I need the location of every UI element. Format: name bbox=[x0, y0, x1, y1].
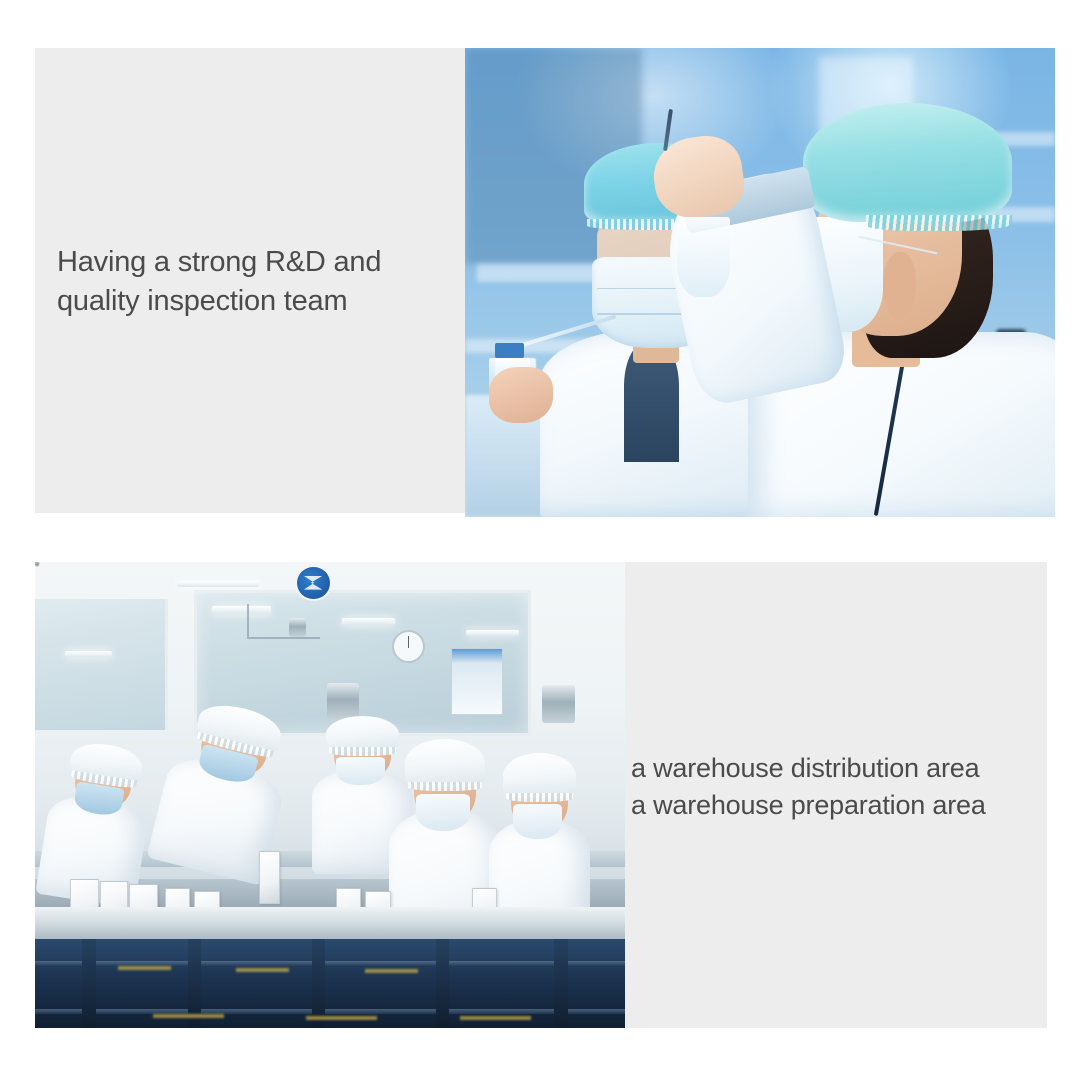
top-section: Having a strong R&D and quality inspecti… bbox=[35, 48, 1055, 518]
ceiling-light-5 bbox=[177, 581, 260, 588]
wall-notice-poster bbox=[451, 648, 503, 715]
hanging-rack-icon bbox=[247, 604, 320, 639]
worker3-hairnet-icon bbox=[326, 716, 398, 752]
ceiling-light-2 bbox=[342, 618, 395, 625]
table-rail-lower bbox=[35, 1009, 625, 1014]
table-underside bbox=[35, 939, 625, 1028]
floor-marking-stripe bbox=[118, 966, 171, 970]
floor-marking-stripe bbox=[153, 1014, 224, 1018]
lab-inspection-photo bbox=[465, 48, 1055, 517]
bottom-caption: a warehouse distribution area a warehous… bbox=[617, 750, 1041, 824]
floor-marking-stripe bbox=[460, 1016, 531, 1020]
worker5-hairnet-icon bbox=[503, 753, 575, 798]
steel-fixture bbox=[289, 618, 307, 637]
bottom-section: a warehouse distribution area a warehous… bbox=[35, 562, 1047, 1028]
hand-holding-bottle bbox=[489, 367, 554, 423]
warehouse-packing-photo bbox=[35, 562, 625, 1028]
bottom-caption-panel: a warehouse distribution area a warehous… bbox=[617, 562, 1047, 1028]
blue-circular-sign-icon bbox=[295, 565, 332, 602]
carton bbox=[35, 562, 37, 564]
worker4-hairnet-icon bbox=[405, 739, 486, 787]
carton-upright bbox=[259, 851, 280, 904]
table-leg bbox=[436, 939, 449, 1028]
cleanroom-window-left bbox=[35, 599, 168, 729]
top-caption-panel: Having a strong R&D and quality inspecti… bbox=[35, 48, 467, 513]
bottom-caption-line-1: a warehouse distribution area bbox=[631, 750, 1041, 787]
top-caption-line-1: Having a strong R&D and bbox=[57, 243, 457, 282]
top-caption: Having a strong R&D and quality inspecti… bbox=[57, 243, 457, 321]
ceiling-light-4 bbox=[65, 651, 112, 657]
table-leg bbox=[82, 939, 96, 1028]
ceiling-light-3 bbox=[466, 630, 519, 637]
table-leg bbox=[554, 939, 568, 1028]
steel-dispenser-2 bbox=[542, 685, 574, 722]
hairnet-profile-icon bbox=[803, 103, 1012, 222]
reagent-bottle-cap bbox=[495, 343, 525, 357]
floor-marking-stripe bbox=[236, 968, 289, 972]
worker3-mask-icon bbox=[336, 757, 384, 786]
worker4-mask-icon bbox=[416, 794, 470, 832]
floor-marking-stripe bbox=[365, 969, 418, 973]
top-caption-line-2: quality inspection team bbox=[57, 282, 457, 321]
table-rail-upper bbox=[35, 961, 625, 966]
bottom-caption-line-2: a warehouse preparation area bbox=[631, 787, 1041, 824]
technician2-ear bbox=[883, 252, 917, 318]
worker5-mask-icon bbox=[513, 804, 561, 839]
floor-marking-stripe bbox=[306, 1016, 377, 1020]
steel-table-top bbox=[35, 907, 625, 940]
flask-icon bbox=[677, 217, 730, 297]
